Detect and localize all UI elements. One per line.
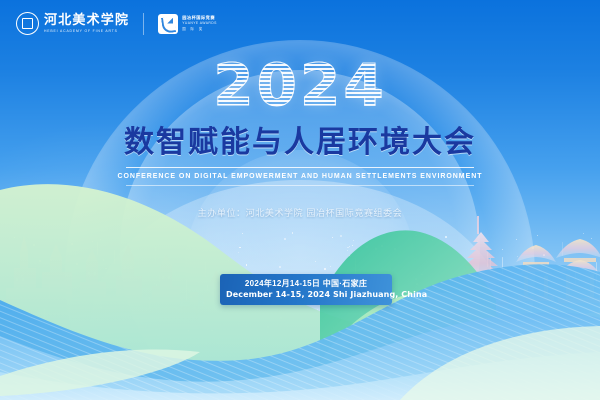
title-rule-top (126, 167, 474, 168)
title-rule-bottom (126, 185, 474, 186)
page-subtitle-en: CONFERENCE ON DIGITAL EMPOWERMENT AND HU… (0, 171, 600, 183)
university-seal-icon (16, 12, 39, 35)
organizer-line: 主办单位：河北美术学院 园冶杯国际竞赛组委会 (0, 207, 600, 220)
yuanye-awards-logo[interactable]: 园冶杯国际竞赛 YUANYE AWARDS 国 际 奖 (158, 14, 217, 34)
hebei-academy-logo[interactable]: 河北美术学院 HEBEI ACADEMY OF FINE ARTS (16, 12, 129, 35)
logo-divider (143, 13, 144, 35)
header-logos: 河北美术学院 HEBEI ACADEMY OF FINE ARTS 园冶杯国际竞… (16, 12, 217, 35)
year-block: 2024 (0, 56, 600, 114)
year-text: 2024 (213, 56, 386, 114)
organizer-label: 主办单位： (198, 208, 246, 218)
title-block: 数智赋能与人居环境大会 CONFERENCE ON DIGITAL EMPOWE… (0, 124, 600, 186)
university-name-cn: 河北美术学院 (44, 14, 129, 28)
page-title: 数智赋能与人居环境大会 (0, 124, 600, 162)
date-line-cn: 2024年12月14-15日 中国·石家庄 (226, 278, 386, 289)
date-line-en: December 14-15, 2024 Shi Jiazhuang, Chin… (226, 289, 386, 300)
partner-tagline: 国 际 奖 (182, 26, 217, 32)
conference-poster: 河北美术学院 HEBEI ACADEMY OF FINE ARTS 园冶杯国际竞… (0, 0, 600, 400)
yuanye-cup-mark-icon (158, 14, 178, 34)
status-badge: 2024年12月14-15日 中国·石家庄 December 14-15, 20… (220, 274, 392, 305)
organizer-names: 河北美术学院 园冶杯国际竞赛组委会 (246, 208, 403, 218)
university-name-en: HEBEI ACADEMY OF FINE ARTS (44, 28, 129, 34)
